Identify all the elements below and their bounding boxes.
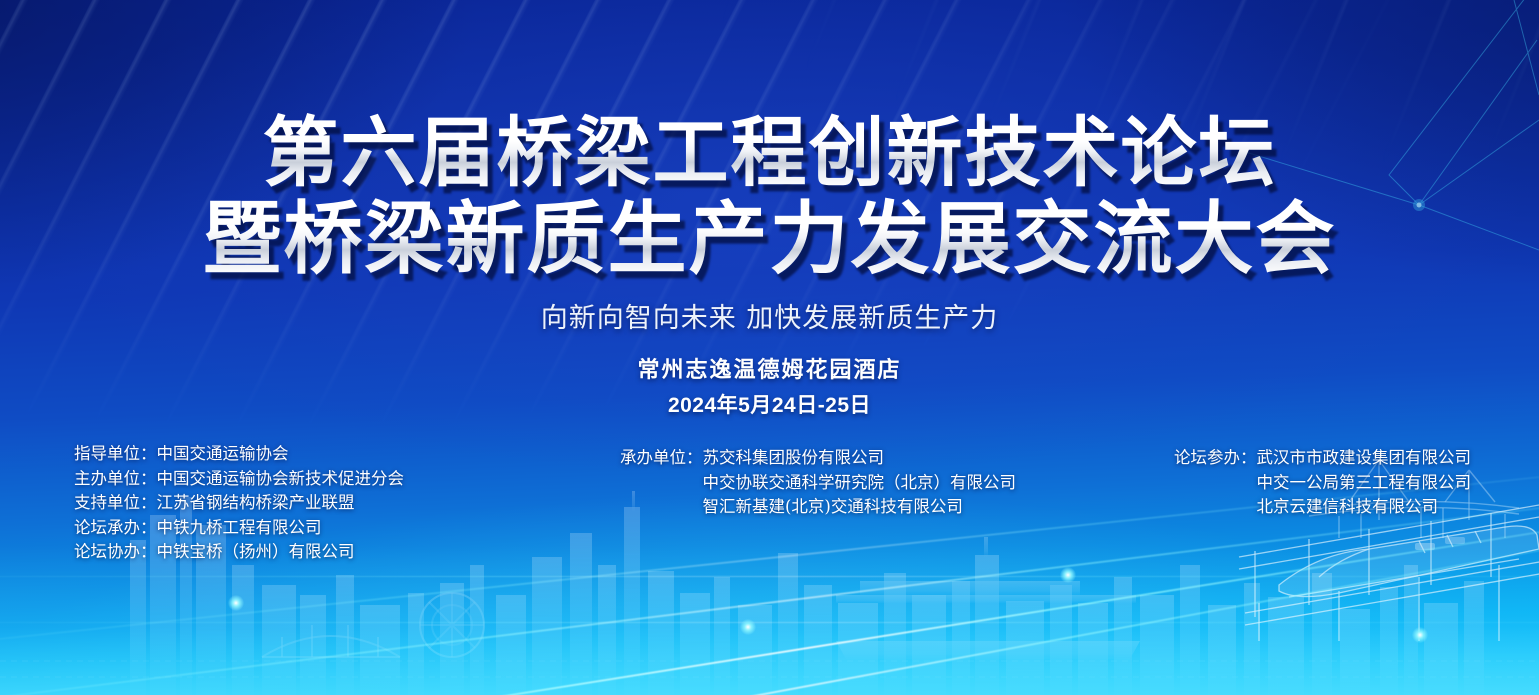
organizer-row: 主办单位：中国交通运输协会新技术促进分会 (74, 467, 404, 492)
organizer-row: 论坛参办：武汉市市政建设集团有限公司 (1174, 446, 1471, 471)
venue-block: 常州志逸温德姆花园酒店 2024年5月24日-25日 (0, 352, 1539, 419)
slogan: 向新向智向未来 加快发展新质生产力 (0, 296, 1539, 335)
event-date: 2024年5月24日-25日 (0, 389, 1539, 419)
organizer-value: 智汇新基建(北京)交通科技有限公司 (703, 497, 963, 516)
venue-name: 常州志逸温德姆花园酒店 (0, 352, 1539, 384)
organizer-value: 中交一公局第三工程有限公司 (1257, 473, 1472, 492)
organizer-row: 承办单位：苏交科集团股份有限公司 (620, 446, 1016, 471)
organizer-value: 北京云建信科技有限公司 (1257, 497, 1439, 516)
organizer-row: 论坛参办：中交一公局第三工程有限公司 (1174, 471, 1471, 496)
organizer-row: 论坛参办：北京云建信科技有限公司 (1174, 495, 1471, 520)
conference-banner: 第六届桥梁工程创新技术论坛 暨桥梁新质生产力发展交流大会 向新向智向未来 加快发… (0, 0, 1539, 695)
organizer-value: 江苏省钢结构桥梁产业联盟 (157, 493, 355, 512)
organizer-row: 论坛协办：中铁宝桥（扬州）有限公司 (74, 540, 404, 565)
organizer-label: 承办单位： (620, 446, 703, 471)
title-block: 第六届桥梁工程创新技术论坛 暨桥梁新质生产力发展交流大会 (0, 112, 1539, 282)
organizer-column-middle: 承办单位：苏交科集团股份有限公司 承办单位：中交协联交通科学研究院（北京）有限公… (620, 446, 1016, 520)
organizer-row: 指导单位：中国交通运输协会 (74, 442, 404, 467)
main-title-line-1: 第六届桥梁工程创新技术论坛 (0, 112, 1539, 193)
organizer-label: 论坛参办： (1174, 446, 1257, 471)
organizer-value: 中铁宝桥（扬州）有限公司 (157, 542, 355, 561)
organizer-value: 苏交科集团股份有限公司 (703, 448, 885, 467)
organizer-column-right: 论坛参办：武汉市市政建设集团有限公司 论坛参办：中交一公局第三工程有限公司 论坛… (1174, 446, 1471, 520)
organizer-row: 承办单位：中交协联交通科学研究院（北京）有限公司 (620, 471, 1016, 496)
organizer-label: 指导单位： (74, 442, 157, 467)
organizer-value: 中国交通运输协会新技术促进分会 (157, 469, 405, 488)
organizer-label: 论坛协办： (74, 540, 157, 565)
organizer-value: 武汉市市政建设集团有限公司 (1257, 448, 1472, 467)
organizer-value: 中铁九桥工程有限公司 (157, 518, 322, 537)
organizer-row: 论坛承办：中铁九桥工程有限公司 (74, 516, 404, 541)
organizer-row: 承办单位：智汇新基建(北京)交通科技有限公司 (620, 495, 1016, 520)
organizer-label: 主办单位： (74, 467, 157, 492)
organizer-row: 支持单位：江苏省钢结构桥梁产业联盟 (74, 491, 404, 516)
banner-content: 第六届桥梁工程创新技术论坛 暨桥梁新质生产力发展交流大会 向新向智向未来 加快发… (0, 0, 1539, 695)
organizer-label: 论坛承办： (74, 516, 157, 541)
organizer-label: 支持单位： (74, 491, 157, 516)
organizer-value: 中国交通运输协会 (157, 444, 289, 463)
main-title-line-2: 暨桥梁新质生产力发展交流大会 (0, 197, 1539, 282)
organizer-value: 中交协联交通科学研究院（北京）有限公司 (703, 473, 1017, 492)
organizers-block: 指导单位：中国交通运输协会 主办单位：中国交通运输协会新技术促进分会 支持单位：… (0, 442, 1539, 572)
organizer-column-left: 指导单位：中国交通运输协会 主办单位：中国交通运输协会新技术促进分会 支持单位：… (74, 442, 404, 565)
